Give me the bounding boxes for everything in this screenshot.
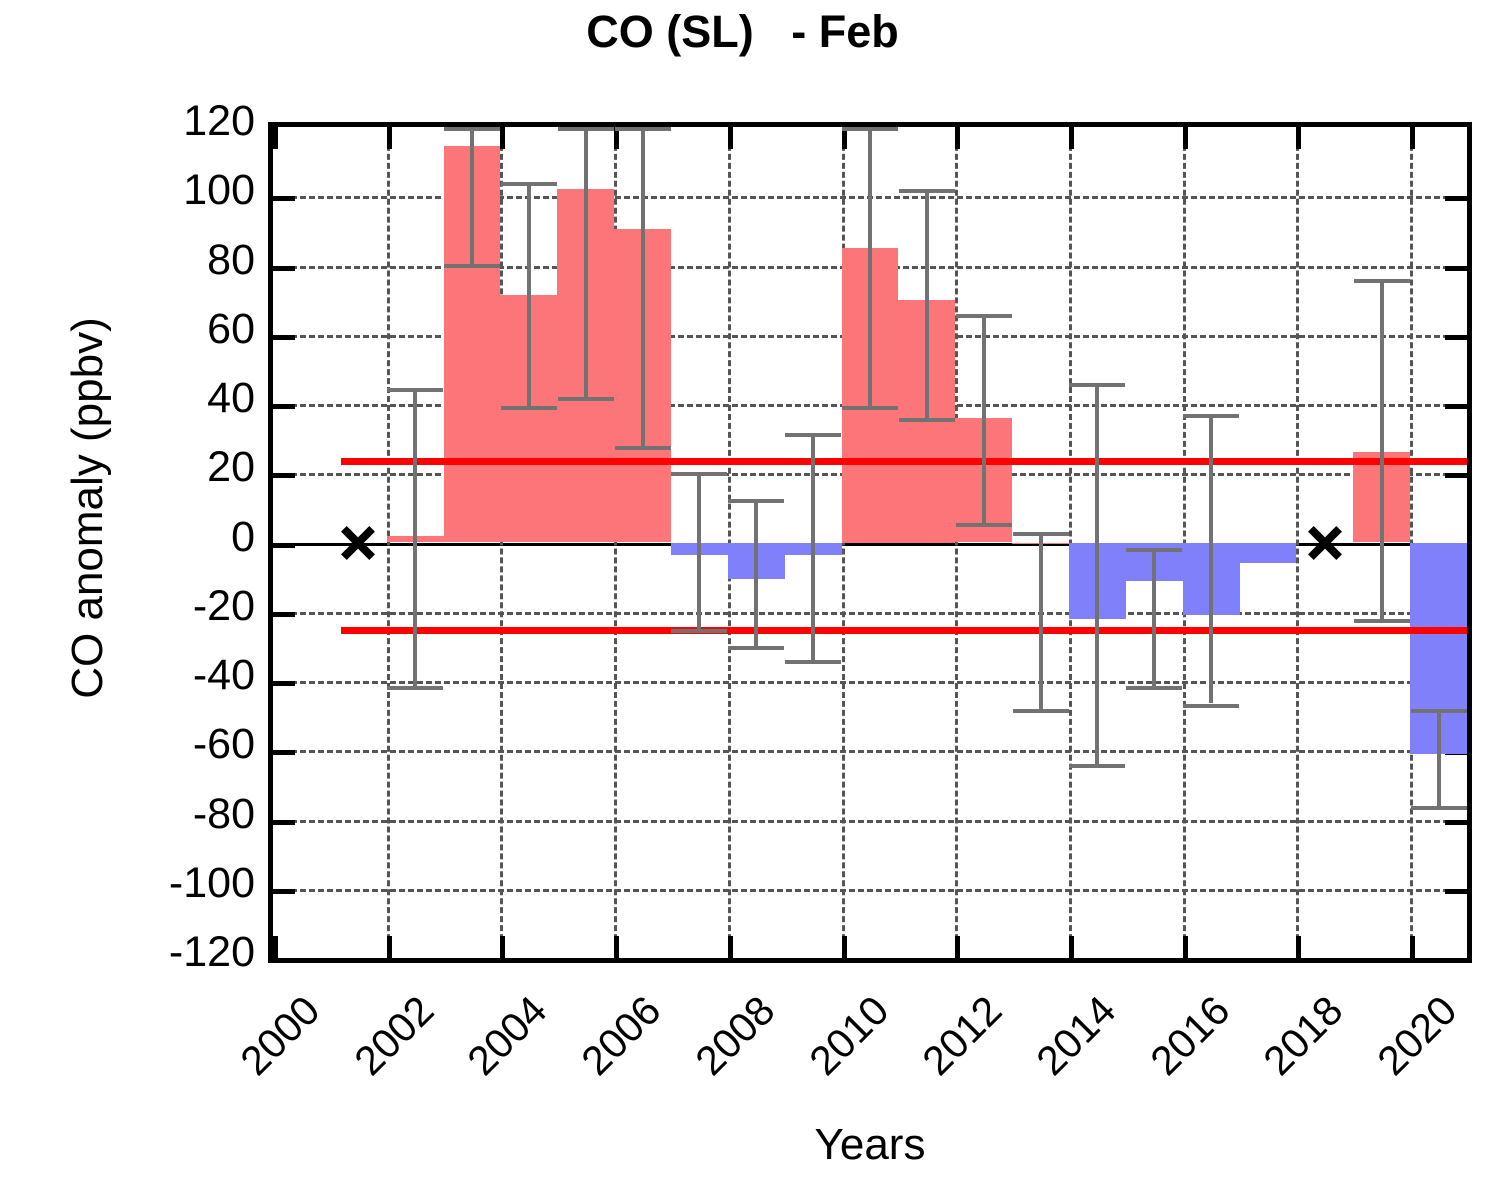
y-tick-label: 0 — [15, 513, 255, 562]
error-bar-line — [868, 127, 872, 406]
y-tick-label: 40 — [15, 374, 255, 423]
error-bar-cap — [558, 397, 614, 401]
y-tick — [273, 889, 295, 894]
y-tick — [1445, 820, 1467, 825]
y-tick — [1445, 335, 1467, 340]
y-tick-label: -80 — [15, 790, 255, 839]
x-tick — [1296, 936, 1301, 958]
bar — [1240, 543, 1297, 564]
chart-figure: CO (SL) - Feb CO anomaly (ppbv) Years 12… — [0, 0, 1485, 1185]
y-tick — [273, 543, 295, 548]
error-bar-line — [1039, 532, 1043, 709]
x-tick — [500, 936, 505, 958]
y-tick — [273, 612, 295, 617]
y-tick — [273, 404, 295, 409]
y-tick — [273, 681, 295, 686]
error-bar-cap — [728, 499, 784, 503]
x-tick — [955, 936, 960, 958]
error-bar-cap — [899, 189, 955, 193]
x-tick — [1410, 127, 1415, 149]
error-bar-cap — [785, 660, 841, 664]
error-bar-cap — [558, 127, 614, 131]
error-bar-line — [413, 388, 417, 686]
error-bar-line — [1095, 383, 1099, 764]
error-bar-line — [1437, 709, 1441, 806]
error-bar-cap — [728, 646, 784, 650]
x-tick — [614, 936, 619, 958]
gridline-h — [273, 681, 1467, 684]
y-tick — [273, 335, 295, 340]
y-tick — [1445, 404, 1467, 409]
y-tick — [273, 820, 295, 825]
error-bar-cap — [1411, 806, 1467, 810]
y-tick-label: -20 — [15, 582, 255, 631]
error-bar-line — [982, 314, 986, 523]
x-tick — [842, 936, 847, 958]
error-bar-cap — [1126, 686, 1182, 690]
gridline-h — [273, 750, 1467, 753]
y-tick — [273, 266, 295, 271]
x-tick — [1183, 127, 1188, 149]
error-bar-line — [641, 127, 645, 446]
x-tick — [728, 936, 733, 958]
error-bar-cap — [1069, 764, 1125, 768]
x-tick — [728, 127, 733, 149]
x-marker — [1305, 523, 1345, 563]
gridline-v — [387, 127, 390, 958]
plot-area — [268, 122, 1472, 963]
error-bar-line — [754, 499, 758, 646]
error-bar-cap — [615, 446, 671, 450]
gridline-h — [273, 612, 1467, 615]
y-tick-label: -100 — [15, 859, 255, 908]
plot-inner — [273, 127, 1467, 958]
y-tick-label: -120 — [15, 928, 255, 977]
x-tick — [1069, 936, 1074, 958]
error-bar-cap — [444, 127, 500, 131]
error-bar-cap — [899, 418, 955, 422]
y-tick — [273, 196, 295, 201]
y-tick — [1445, 196, 1467, 201]
y-tick-label: 60 — [15, 305, 255, 354]
x-tick — [387, 127, 392, 149]
error-bar-cap — [1183, 414, 1239, 418]
x-axis-tick-labels: 2000200220042006200820102012201420162018… — [268, 963, 1472, 1123]
error-bar-line — [1209, 414, 1213, 703]
y-tick-label: 20 — [15, 443, 255, 492]
y-tick-label: -40 — [15, 651, 255, 700]
error-bar-cap — [387, 686, 443, 690]
x-tick — [273, 127, 278, 149]
chart-title: CO (SL) - Feb — [0, 6, 1485, 58]
error-bar-cap — [501, 182, 557, 186]
gridline-h — [273, 820, 1467, 823]
y-tick-label: 100 — [15, 166, 255, 215]
x-tick — [1183, 936, 1188, 958]
error-bar-cap — [615, 127, 671, 131]
error-bar-line — [527, 182, 531, 405]
y-tick — [1445, 889, 1467, 894]
y-tick — [273, 750, 295, 755]
error-bar-line — [1380, 279, 1384, 618]
error-bar-line — [697, 472, 701, 630]
x-tick — [1069, 127, 1074, 149]
error-bar-line — [811, 433, 815, 660]
error-bar-cap — [1411, 709, 1467, 713]
error-bar-cap — [1354, 619, 1410, 623]
y-tick — [273, 473, 295, 478]
error-bar-cap — [1013, 532, 1069, 536]
error-bar-line — [925, 189, 929, 418]
x-tick — [1296, 127, 1301, 149]
error-bar-cap — [1069, 383, 1125, 387]
error-bar-cap — [842, 406, 898, 410]
upper-threshold — [341, 458, 1467, 465]
x-tick — [1410, 936, 1415, 958]
x-tick — [273, 936, 278, 958]
error-bar-cap — [842, 127, 898, 131]
gridline-v — [955, 127, 958, 958]
error-bar-cap — [387, 388, 443, 392]
y-tick-label: -60 — [15, 720, 255, 769]
x-tick — [955, 127, 960, 149]
error-bar-cap — [956, 314, 1012, 318]
error-bar-cap — [501, 406, 557, 410]
x-tick — [387, 936, 392, 958]
error-bar-cap — [1354, 279, 1410, 283]
error-bar-cap — [444, 264, 500, 268]
error-bar-cap — [785, 433, 841, 437]
y-tick-label: 120 — [15, 97, 255, 146]
error-bar-cap — [1013, 709, 1069, 713]
lower-threshold — [341, 627, 1467, 634]
y-tick — [1445, 473, 1467, 478]
y-tick — [1445, 266, 1467, 271]
gridline-h — [273, 889, 1467, 892]
gridline-v — [500, 127, 503, 958]
error-bar-cap — [956, 523, 1012, 527]
x-marker — [338, 523, 378, 563]
gridline-v — [1296, 127, 1299, 958]
error-bar-line — [1152, 548, 1156, 687]
error-bar-cap — [1126, 548, 1182, 552]
error-bar-cap — [671, 629, 727, 633]
error-bar-cap — [671, 472, 727, 476]
x-tick — [500, 127, 505, 149]
error-bar-line — [470, 127, 474, 264]
error-bar-cap — [1183, 704, 1239, 708]
y-tick-label: 80 — [15, 236, 255, 285]
error-bar-line — [584, 127, 588, 397]
